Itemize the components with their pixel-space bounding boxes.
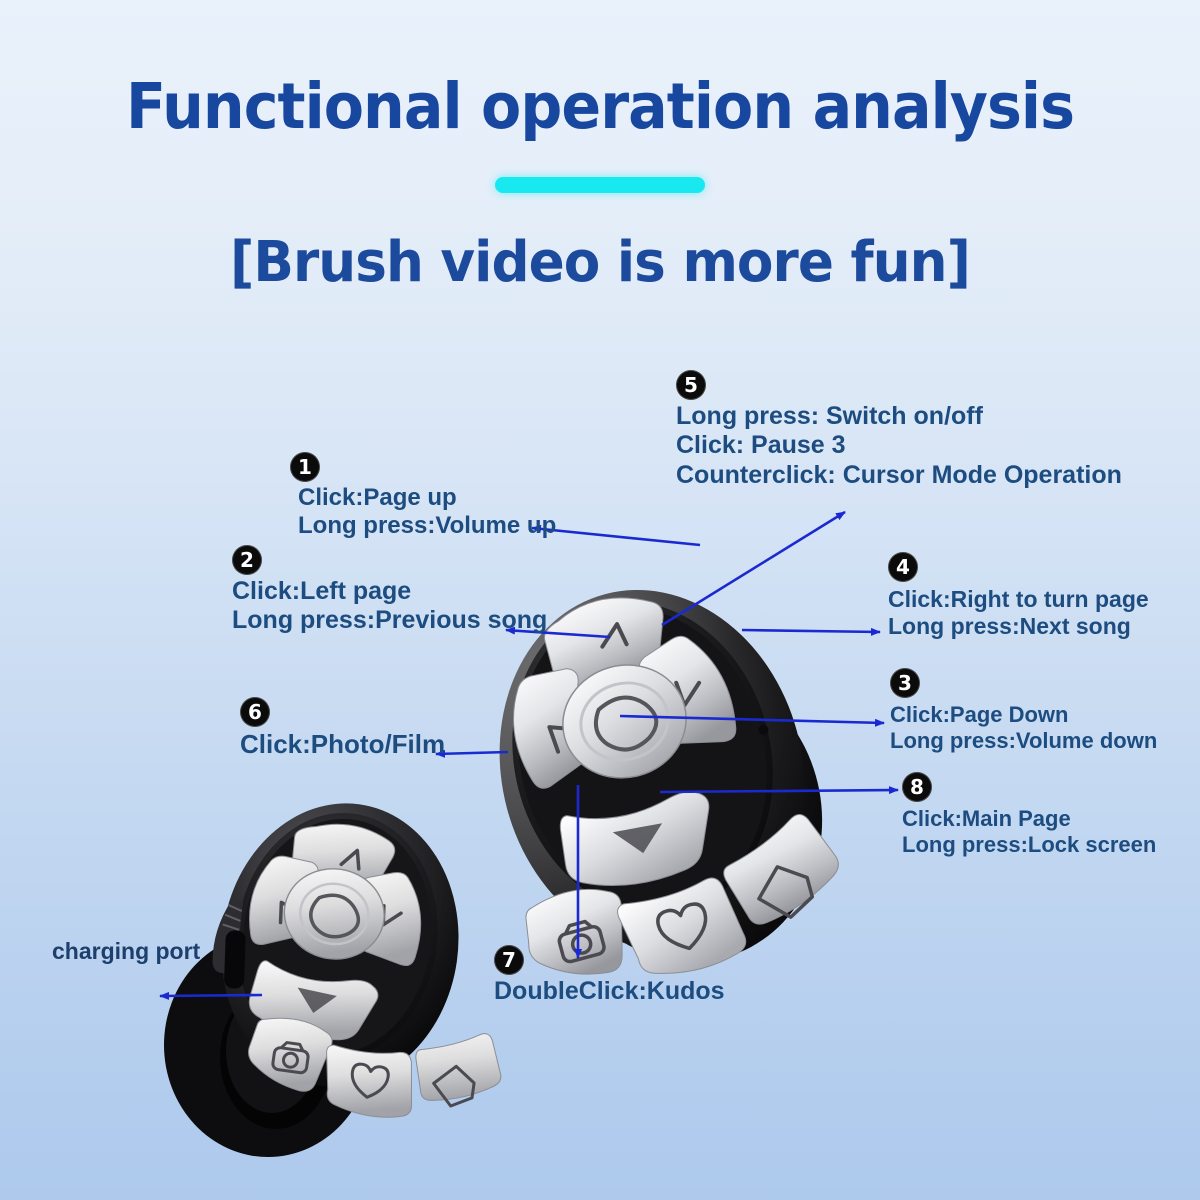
callout-2-line-2: Long press:Previous song	[232, 606, 547, 635]
callout-3: 3 Click:Page Down Long press:Volume down	[890, 668, 1157, 753]
callout-1: 1 Click:Page up Long press:Volume up	[290, 452, 556, 540]
callout-5-line-1: Long press: Switch on/off	[676, 402, 1122, 431]
callout-3-line-2: Long press:Volume down	[890, 728, 1157, 754]
callout-4-line-2: Long press:Next song	[888, 613, 1149, 640]
infographic-canvas: Functional operation analysis [Brush vid…	[0, 0, 1200, 1200]
callout-4-line-1: Click:Right to turn page	[888, 586, 1149, 613]
remote-secondary-illustration	[150, 795, 510, 1165]
callout-5: 5 Long press: Switch on/off Click: Pause…	[676, 370, 1122, 490]
callout-6-badge: 6	[240, 697, 270, 727]
callout-8-line-2: Long press:Lock screen	[902, 832, 1156, 858]
callout-2: 2 Click:Left page Long press:Previous so…	[232, 545, 547, 636]
callout-6: 6 Click:Photo/Film	[240, 695, 445, 759]
callout-2-line-1: Click:Left page	[232, 577, 547, 606]
page-title: Functional operation analysis	[42, 70, 1158, 143]
callout-7-badge: 7	[494, 945, 524, 975]
callout-1-badge: 1	[290, 452, 320, 482]
callout-4: 4 Click:Right to turn page Long press:Ne…	[888, 552, 1149, 640]
callout-4-badge: 4	[888, 552, 918, 582]
callout-8: 8 Click:Main Page Long press:Lock screen	[902, 772, 1156, 857]
callout-5-line-2: Click: Pause 3	[676, 431, 1122, 460]
page-subtitle: [Brush video is more fun]	[30, 230, 1170, 295]
callout-3-badge: 3	[890, 668, 920, 698]
callout-8-line-1: Click:Main Page	[902, 806, 1156, 832]
callout-1-line-2: Long press:Volume up	[298, 512, 556, 540]
callout-5-line-3: Counterclick: Cursor Mode Operation	[676, 461, 1122, 490]
callout-7: 7 DoubleClick:Kudos	[494, 945, 725, 1006]
callout-7-line-1: DoubleClick:Kudos	[494, 977, 725, 1006]
title-accent-bar	[495, 177, 705, 193]
callout-1-line-1: Click:Page up	[298, 484, 556, 512]
callout-2-badge: 2	[232, 545, 262, 575]
callout-8-badge: 8	[902, 772, 932, 802]
charging-port-label: charging port	[52, 938, 200, 965]
callout-5-badge: 5	[676, 370, 706, 400]
callout-6-line-1: Click:Photo/Film	[240, 729, 445, 759]
callout-3-line-1: Click:Page Down	[890, 702, 1157, 728]
